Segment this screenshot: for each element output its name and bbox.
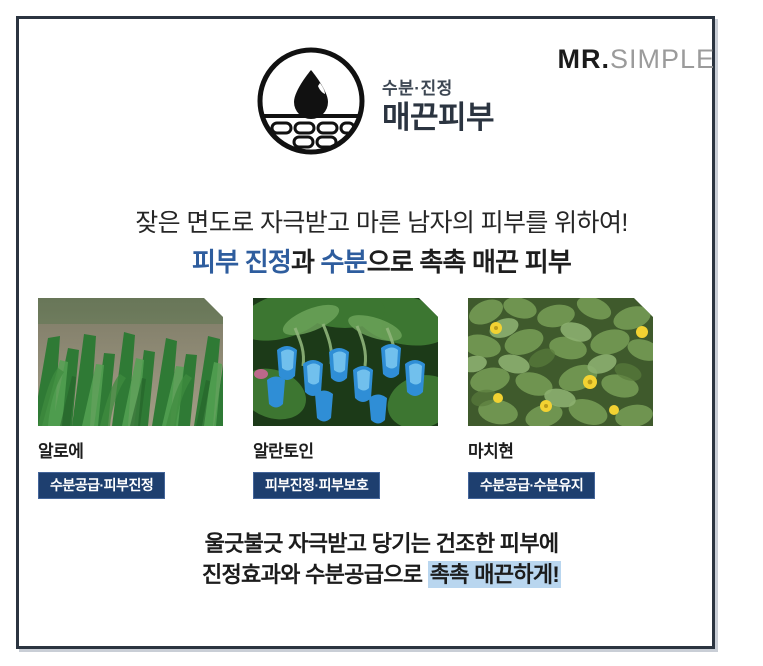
footer-line-1: 울긋불긋 자극받고 당기는 건조한 피부에 xyxy=(0,528,763,559)
footer-line-2-prefix: 진정효과와 수분공급으로 xyxy=(202,562,428,587)
headline-segment-blue-2: 수분 xyxy=(320,247,366,277)
water-drop-emblem-icon xyxy=(256,46,366,156)
footer-copy-block: 울긋불긋 자극받고 당기는 건조한 피부에 진정효과와 수분공급으로 촉촉 매끈… xyxy=(0,528,763,590)
headline-block: 잦은 면도로 자극받고 마른 남자의 피부를 위하여! 피부 진정과 수분으로 … xyxy=(0,208,763,280)
footer-line-2-highlight: 촉촉 매끈하게! xyxy=(428,561,561,588)
ingredient-card: 알란토인 피부진정·피부보호 xyxy=(253,298,438,499)
brand-wordmark: MR.SIMPLE xyxy=(557,46,715,73)
ingredient-benefit-badge: 피부진정·피부보호 xyxy=(253,472,380,499)
ingredient-name: 마치현 xyxy=(468,437,653,462)
logo-subtitle: 수분·진정 xyxy=(382,74,494,99)
purslane-yellow-flowers-photo xyxy=(468,298,653,426)
brand-name-bold: MR. xyxy=(557,44,610,74)
comfrey-blue-flowers-photo xyxy=(253,298,438,426)
brand-name-light: SIMPLE xyxy=(610,44,715,74)
aloe-plants-photo xyxy=(38,298,223,426)
ingredient-card: 알로에 수분공급·피부진정 xyxy=(38,298,223,499)
logo-text-block: 수분·진정 매끈피부 xyxy=(382,68,494,135)
ingredient-benefit-badge: 수분공급·수분유지 xyxy=(468,472,595,499)
logo-lockup: 수분·진정 매끈피부 xyxy=(256,46,494,156)
logo-title: 매끈피부 xyxy=(382,102,494,135)
headline-segment-blue-1: 피부 진정 xyxy=(192,247,291,277)
headline-segment-dark-1: 과 xyxy=(291,247,321,277)
ingredient-name: 알로에 xyxy=(38,437,223,462)
footer-line-2: 진정효과와 수분공급으로 촉촉 매끈하게! xyxy=(0,559,763,590)
infographic-page: MR.SIMPLE 수분·진정 매끈피부 xyxy=(0,0,763,666)
headline-line-1: 잦은 면도로 자극받고 마른 남자의 피부를 위하여! xyxy=(0,208,763,239)
ingredient-name: 알란토인 xyxy=(253,437,438,462)
headline-line-2: 피부 진정과 수분으로 촉촉 매끈 피부 xyxy=(0,246,763,280)
ingredient-card-list: 알로에 수분공급·피부진정 xyxy=(38,298,728,499)
ingredient-card: 마치현 수분공급·수분유지 xyxy=(468,298,653,499)
ingredient-benefit-badge: 수분공급·피부진정 xyxy=(38,472,165,499)
headline-segment-dark-2: 으로 촉촉 매끈 피부 xyxy=(367,247,571,277)
